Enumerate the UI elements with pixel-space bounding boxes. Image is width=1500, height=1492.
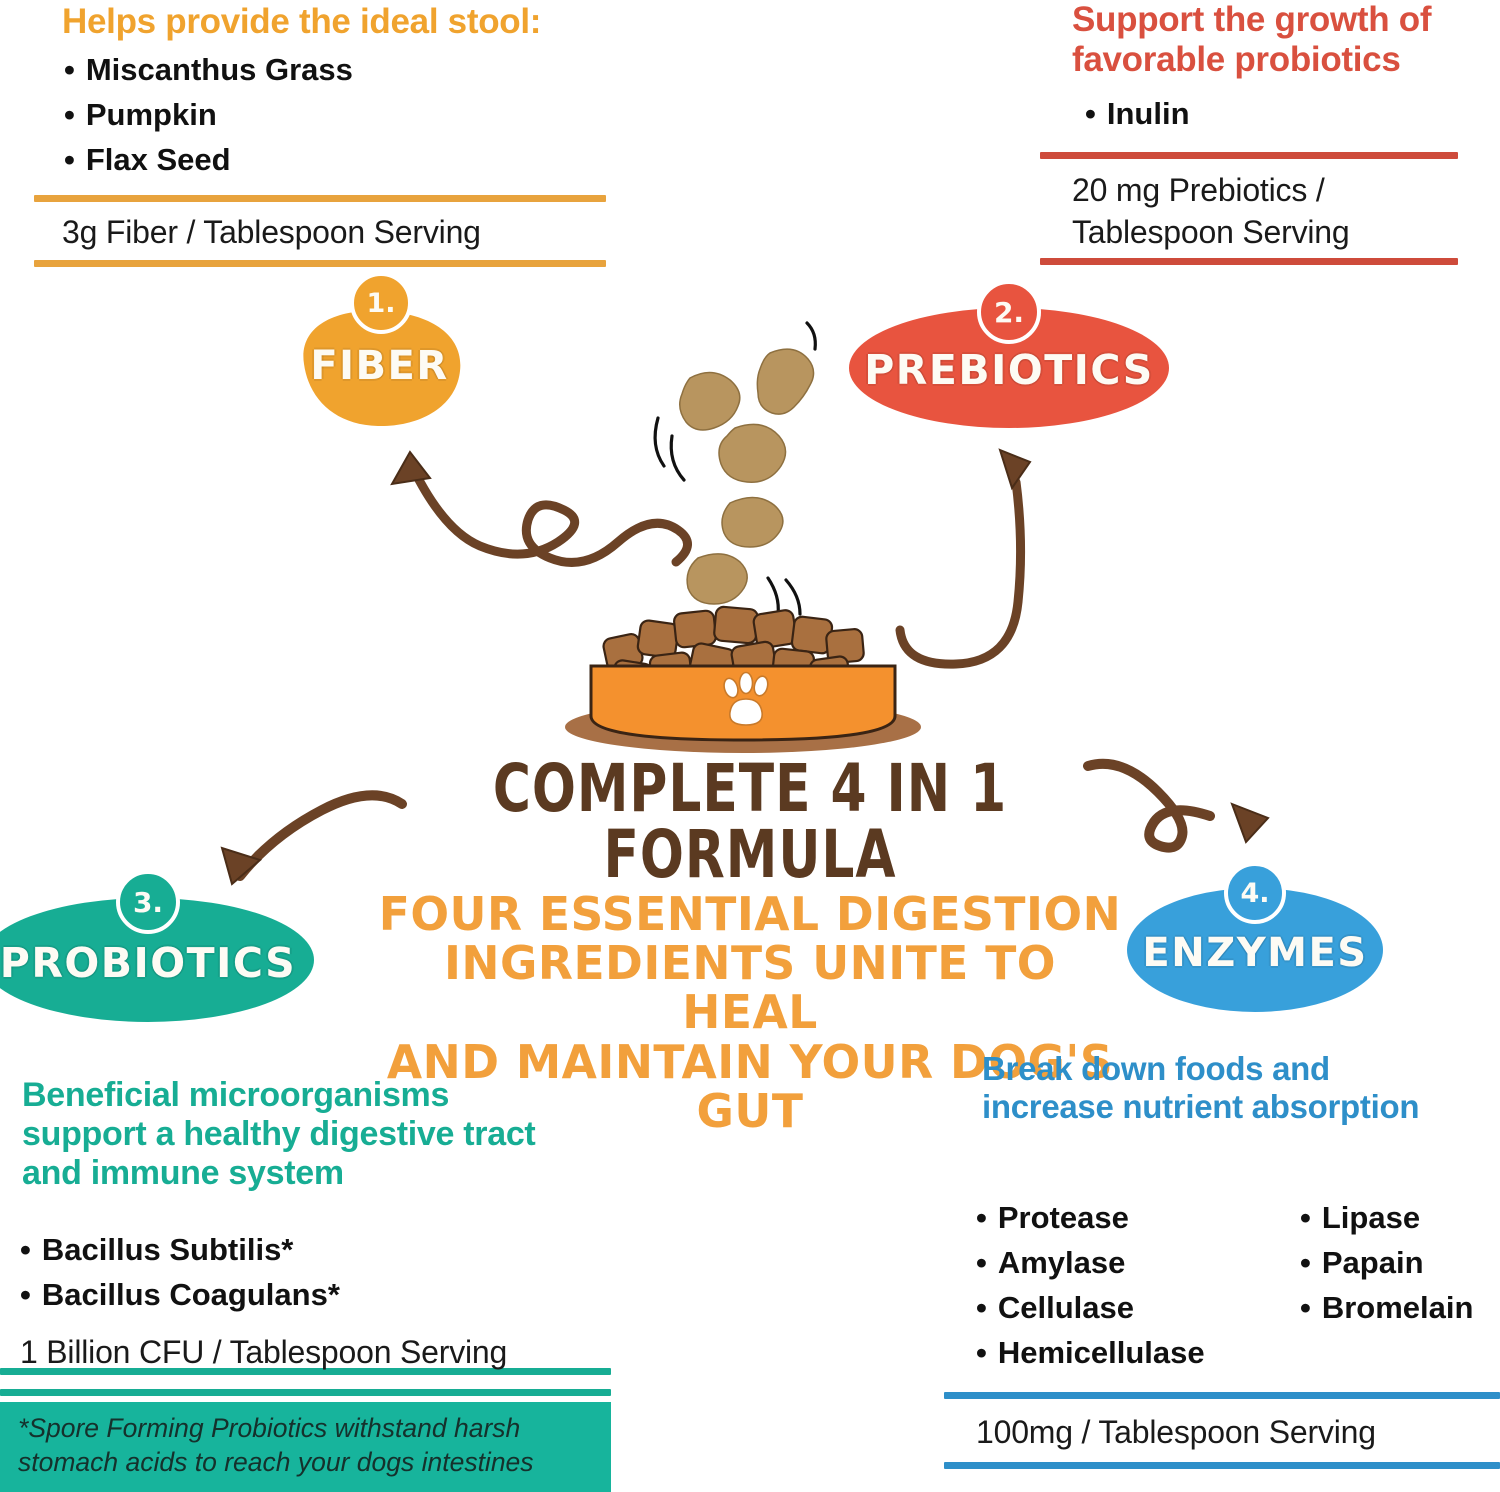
fiber-heading: Helps provide the ideal stool: (62, 2, 622, 42)
enzymes-heading: Break down foods and increase nutrient a… (982, 1050, 1422, 1125)
probiotics-footnote: *Spore Forming Probiotics withstand hars… (0, 1402, 611, 1492)
badge-prebiotics[interactable]: 2. PREBIOTICS (846, 288, 1172, 431)
list-item: Bacillus Subtilis* (20, 1228, 560, 1273)
page-title: COMPLETE 4 IN 1 FORMULA (385, 756, 1115, 888)
enzymes-serving: 100mg / Tablespoon Serving (976, 1412, 1496, 1454)
fiber-divider-top (34, 195, 606, 202)
subtitle-line-2: INGREDIENTS UNITE TO HEAL (374, 939, 1126, 1037)
kibble-piece (680, 372, 740, 430)
kibble-piece (719, 424, 786, 482)
enzymes-badge-number: 4. (1224, 862, 1286, 924)
list-item: Amylase (976, 1241, 1296, 1286)
fiber-badge-number: 1. (350, 272, 412, 334)
probiotics-badge-label: PROBIOTICS (0, 939, 296, 987)
prebiotics-serving: 20 mg Prebiotics / Tablespoon Serving (1072, 170, 1464, 253)
list-item: Hemicellulase (976, 1331, 1296, 1376)
infographic-canvas: Helps provide the ideal stool: Miscanthu… (0, 0, 1500, 1472)
dog-bowl-illustration (543, 584, 943, 760)
list-item: Pumpkin (64, 93, 604, 138)
arrow-to-probiotics (206, 764, 426, 894)
fiber-ingredient-list: Miscanthus Grass Pumpkin Flax Seed (64, 48, 604, 183)
list-item: Bromelain (1300, 1286, 1500, 1331)
probiotics-badge-number: 3. (116, 870, 180, 934)
kibble-piece (757, 349, 813, 414)
list-item: Bacillus Coagulans* (20, 1273, 560, 1318)
prebiotics-divider-top (1040, 152, 1458, 159)
list-item: Miscanthus Grass (64, 48, 604, 93)
badge-enzymes[interactable]: 4. ENZYMES (1124, 866, 1386, 1016)
prebiotics-ingredient-list: Inulin (1085, 92, 1485, 137)
list-item: Papain (1300, 1241, 1500, 1286)
enzymes-divider-top (944, 1392, 1500, 1399)
list-item: Protease (976, 1196, 1296, 1241)
list-item: Flax Seed (64, 138, 604, 183)
enzymes-ingredient-list-col1: Protease Amylase Cellulase Hemicellulase (976, 1196, 1296, 1376)
motion-line (807, 323, 815, 349)
enzymes-divider-bottom (944, 1462, 1500, 1469)
list-item: Inulin (1085, 92, 1485, 137)
fiber-badge-label: FIBER (310, 343, 448, 389)
probiotics-ingredient-list: Bacillus Subtilis* Bacillus Coagulans* (20, 1228, 560, 1318)
probiotics-divider-bottom (0, 1389, 611, 1396)
subtitle-line-1: FOUR ESSENTIAL DIGESTION (374, 890, 1126, 939)
prebiotics-badge-number: 2. (977, 280, 1041, 344)
enzymes-badge-label: ENZYMES (1142, 930, 1367, 976)
prebiotics-divider-bottom (1040, 258, 1458, 265)
list-item: Cellulase (976, 1286, 1296, 1331)
probiotics-serving: 1 Billion CFU / Tablespoon Serving (20, 1332, 600, 1374)
probiotics-heading: Beneficial microorganisms support a heal… (22, 1076, 562, 1192)
prebiotics-heading: Support the growth of favorable probioti… (1072, 0, 1492, 80)
fiber-serving: 3g Fiber / Tablespoon Serving (62, 212, 622, 254)
badge-probiotics[interactable]: 3. PROBIOTICS (0, 876, 318, 1026)
prebiotics-badge-label: PREBIOTICS (864, 346, 1154, 394)
enzymes-ingredient-list-col2: Lipase Papain Bromelain (1300, 1196, 1500, 1331)
fiber-divider-bottom (34, 260, 606, 267)
list-item: Lipase (1300, 1196, 1500, 1241)
kibble-piece (722, 497, 783, 547)
badge-fiber[interactable]: 1. FIBER (292, 286, 467, 431)
